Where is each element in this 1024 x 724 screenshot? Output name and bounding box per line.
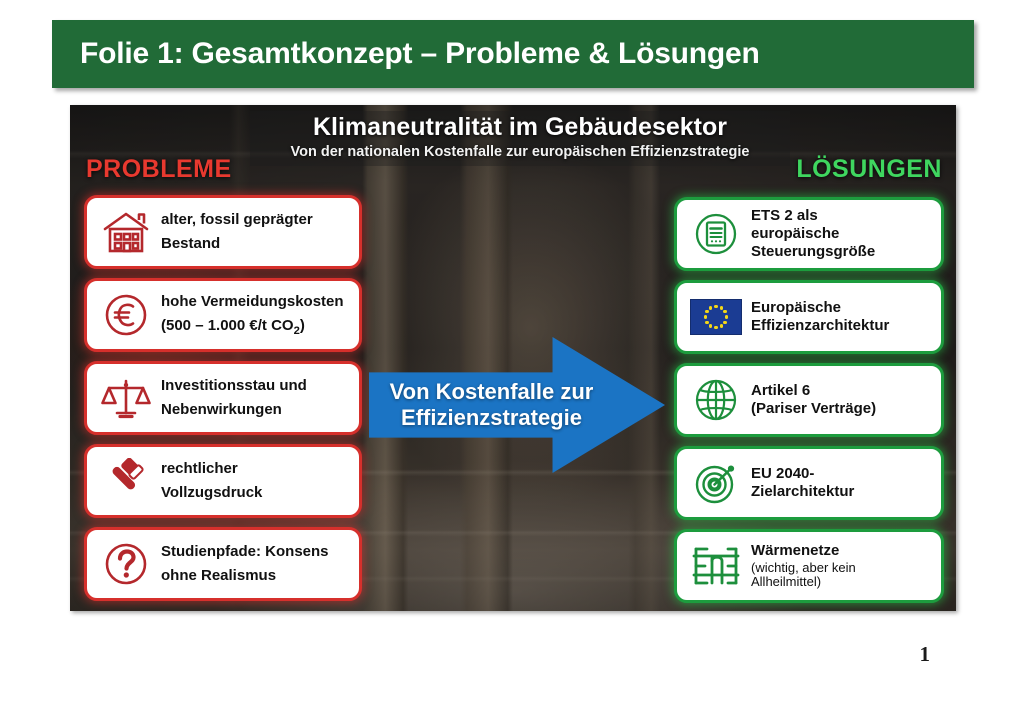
eu-star [723,310,726,313]
eu-star [705,321,708,324]
eu-star [725,315,728,318]
problems-column: alter, fossil geprägter Bestand hohe Ver… [84,195,362,601]
solution-card-label: Artikel 6 (Pariser Verträge) [751,382,876,419]
solution-card-eu2040[interactable]: EU 2040- Zielarchitektur [674,446,944,520]
infographic-image: Klimaneutralität im Gebäudesektor Von de… [70,105,956,611]
eu-flag-icon [687,289,745,345]
problems-column-header: PROBLEME [86,155,232,184]
page-title: Folie 1: Gesamtkonzept – Probleme & Lösu… [52,37,760,71]
gavel-icon [97,453,155,509]
target-icon [687,455,745,511]
scales-icon [97,370,155,426]
eu-star [709,324,712,327]
eu-star [720,306,723,309]
solution-card-label: Wärmenetze (wichtig, aber kein Allheilmi… [751,542,856,589]
document-icon [687,206,745,262]
globe-icon [687,372,745,428]
problem-card-studienpfade[interactable]: Studienpfade: Konsens ohne Realismus [84,527,362,601]
eu-star [709,306,712,309]
solution-card-label: EU 2040- Zielarchitektur [751,465,854,502]
solution-card-waermenetze[interactable]: Wärmenetze (wichtig, aber kein Allheilmi… [674,529,944,603]
solution-card-effizienzarchitektur[interactable]: Europäische Effizienzarchitektur [674,280,944,354]
problem-card-vermeidungskosten[interactable]: hohe Vermeidungskosten (500 – 1.000 €/t … [84,278,362,352]
problem-card-investitionsstau[interactable]: Investitionsstau und Nebenwirkungen [84,361,362,435]
problem-card-vollzugsdruck[interactable]: rechtlicher Vollzugsdruck [84,444,362,518]
eu-star [714,326,717,329]
problem-card-label: rechtlicher Vollzugsdruck [161,457,262,506]
eu-star [723,321,726,324]
problem-card-label: hohe Vermeidungskosten (500 – 1.000 €/t … [161,290,344,341]
slide-title-bar: Folie 1: Gesamtkonzept – Probleme & Lösu… [52,20,974,88]
infographic-title: Klimaneutralität im Gebäudesektor [250,114,790,141]
page-number: 1 [920,642,931,667]
solution-card-label: ETS 2 als europäische Steuerungsgröße [751,207,875,262]
infographic-subtitle: Von der nationalen Kostenfalle zur europ… [250,143,790,161]
solution-card-label: Europäische Effizienzarchitektur [751,299,889,336]
house-icon [97,204,155,260]
solutions-column-header: LÖSUNGEN [796,155,942,184]
eu-star [704,315,707,318]
solution-card-ets2[interactable]: ETS 2 als europäische Steuerungsgröße [674,197,944,271]
eu-star [714,305,717,308]
problem-card-label: Studienpfade: Konsens ohne Realismus [161,540,329,589]
eu-star [720,324,723,327]
problem-card-label: Investitionsstau und Nebenwirkungen [161,374,307,423]
solution-card-artikel6[interactable]: Artikel 6 (Pariser Verträge) [674,363,944,437]
problem-card-label: alter, fossil geprägter Bestand [161,208,313,257]
solutions-column: ETS 2 als europäische Steuerungsgröße Eu… [674,197,944,603]
problem-card-bestand[interactable]: alter, fossil geprägter Bestand [84,195,362,269]
eu-star [705,310,708,313]
question-mark-icon [97,536,155,592]
euro-icon [97,287,155,343]
heat-network-icon [687,538,745,594]
infographic-heading: Klimaneutralität im Gebäudesektor Von de… [250,111,790,166]
